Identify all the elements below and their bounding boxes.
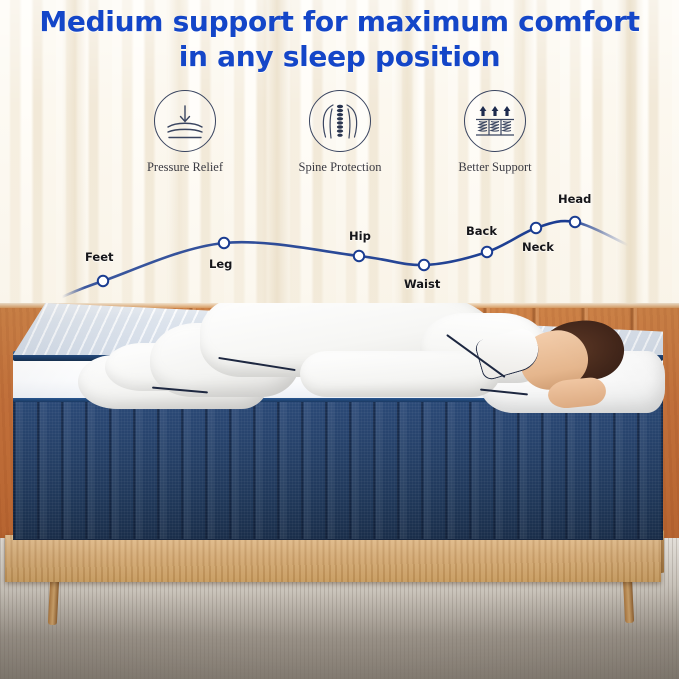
curve-marker-group [98, 217, 580, 286]
curve-label-leg: Leg [209, 257, 232, 271]
page-title-line-2: in any sleep position [0, 39, 679, 74]
support-curve-line [62, 221, 628, 297]
curve-point-leg [219, 238, 229, 248]
page-title-line-1: Medium support for maximum comfort [0, 4, 679, 39]
curve-label-waist: Waist [404, 277, 440, 291]
product-infographic: Medium support for maximum comfort in an… [0, 0, 679, 679]
curve-label-head: Head [558, 192, 591, 206]
curve-label-neck: Neck [522, 240, 554, 254]
curve-point-head [570, 217, 580, 227]
body-support-curve-chart: FeetLegHipWaistBackNeckHead [0, 185, 679, 303]
curve-point-back [482, 247, 492, 257]
curve-point-waist [419, 260, 429, 270]
curve-point-hip [354, 251, 364, 261]
curve-label-back: Back [466, 224, 497, 238]
feature-label: Spine Protection [265, 160, 415, 175]
bed-frame-rail [5, 535, 661, 582]
feature-better-support: Better Support [420, 90, 570, 175]
better-support-icon [464, 90, 526, 152]
person-arm [300, 351, 500, 397]
feature-label: Better Support [420, 160, 570, 175]
bedroom-product-photo [0, 303, 679, 679]
curve-label-feet: Feet [85, 250, 114, 264]
curve-point-feet [98, 276, 108, 286]
curve-label-hip: Hip [349, 229, 371, 243]
mattress-side-panel [13, 399, 663, 539]
mattress-fabric-texture [13, 399, 663, 539]
pressure-relief-icon [154, 90, 216, 152]
feature-label: Pressure Relief [110, 160, 260, 175]
feature-pressure-relief: Pressure Relief [110, 90, 260, 175]
page-title: Medium support for maximum comfort in an… [0, 4, 679, 74]
spine-protection-icon [309, 90, 371, 152]
feature-icon-row: Pressure Relief [110, 90, 570, 175]
feature-spine-protection: Spine Protection [265, 90, 415, 175]
curve-point-neck [531, 223, 541, 233]
